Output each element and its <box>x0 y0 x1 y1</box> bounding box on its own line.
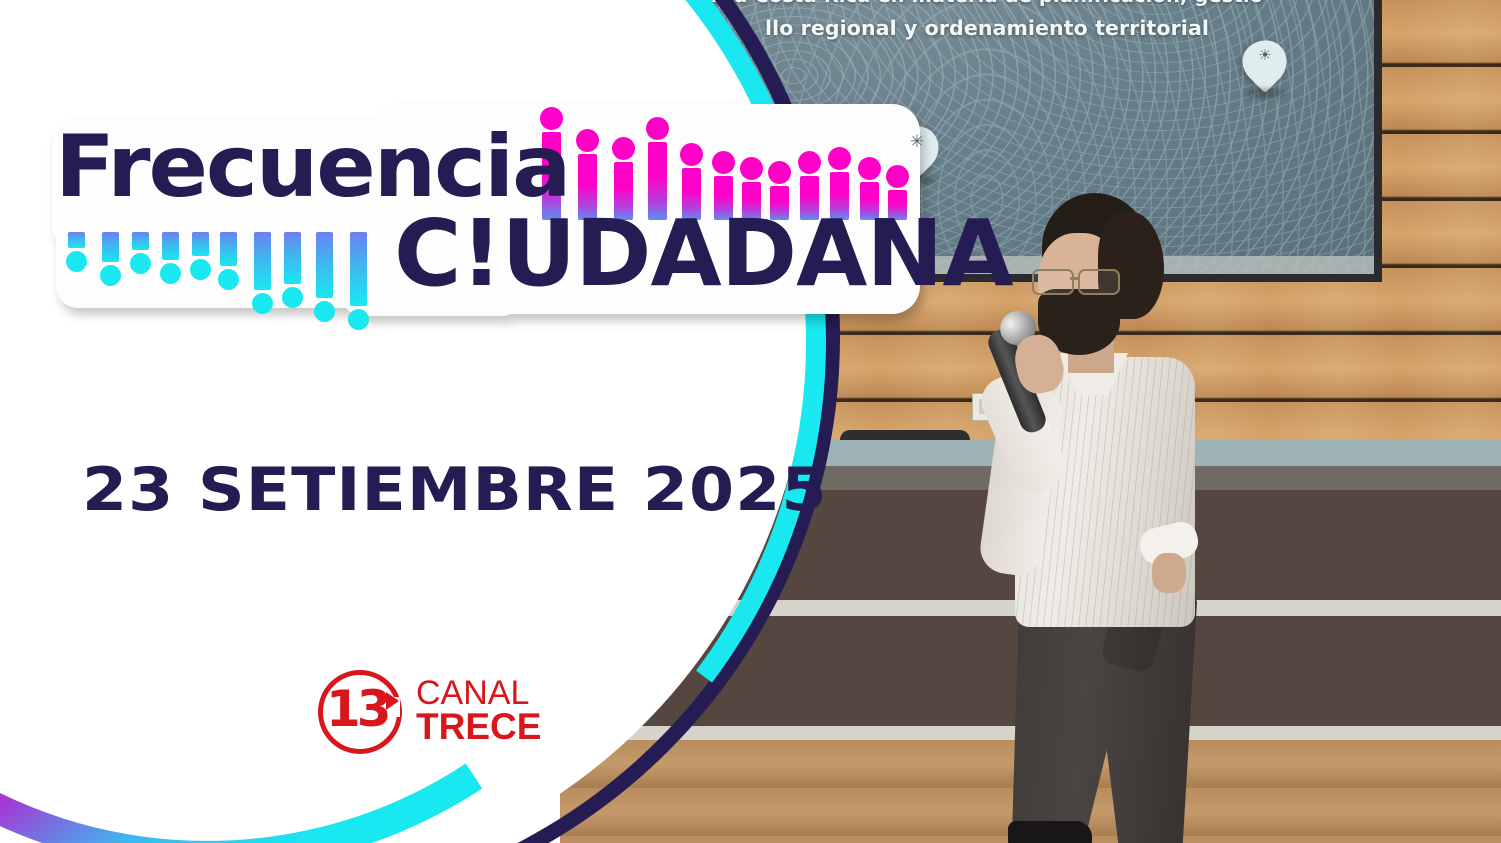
equalizer-bar <box>132 232 149 250</box>
pin-glyph: ✳ <box>895 132 939 152</box>
glasses-lens-left <box>1032 269 1074 295</box>
equalizer-bar <box>316 232 333 298</box>
equalizer-dot <box>740 157 763 180</box>
equalizer-bar <box>102 232 119 262</box>
canal-trece-logo: 13 CANAL TRECE <box>318 664 548 760</box>
equalizer-dot <box>680 143 703 166</box>
canal-name-line-2: TRECE <box>416 708 541 745</box>
presenter-shoe <box>1008 821 1092 843</box>
equalizer-dot <box>190 259 211 280</box>
equalizer-bar <box>350 232 367 306</box>
presenter-hand-in-pocket <box>1152 553 1186 593</box>
equalizer-dot <box>100 265 121 286</box>
equalizer-bar <box>220 232 237 266</box>
logo-word-ciudadana: C!UDADANA <box>394 208 1013 300</box>
pin-glyph: ☀ <box>1243 46 1287 64</box>
broadcast-title-card: nta Costa Rica en materia de planificaci… <box>0 0 1501 843</box>
equalizer-dot <box>886 165 909 188</box>
equalizer-dot <box>712 151 735 174</box>
equalizer-bar <box>192 232 209 256</box>
equalizer-dot <box>612 137 635 160</box>
equalizer-dot <box>576 129 599 152</box>
canal-number: 13 <box>326 684 388 734</box>
canal-name-line-1: CANAL <box>416 676 529 710</box>
equalizer-dot <box>314 301 335 322</box>
equalizer-bar <box>254 232 271 290</box>
equalizer-dot <box>160 263 181 284</box>
equalizer-dot <box>646 117 669 140</box>
equalizer-dot <box>130 253 151 274</box>
equalizer-dot <box>828 147 851 170</box>
equalizer-dot <box>252 293 273 314</box>
glasses-lens-right <box>1078 269 1120 295</box>
equalizer-dot <box>798 151 821 174</box>
presenter-glasses <box>1032 269 1128 293</box>
broadcast-date: 23 SETIEMBRE 2025 <box>82 455 828 525</box>
equalizer-dot <box>282 287 303 308</box>
equalizer-bar <box>162 232 179 260</box>
logo-word-frecuencia: Frecuencia <box>55 124 569 210</box>
lightbulb-icon: ☀ <box>1243 40 1287 96</box>
equalizer-bar <box>284 232 301 284</box>
equalizer-dot <box>348 309 369 330</box>
equalizer-bar <box>68 232 85 248</box>
equalizer-dot <box>218 269 239 290</box>
pin-shadow <box>1245 88 1285 99</box>
equalizer-dot <box>66 251 87 272</box>
equalizer-dot <box>768 161 791 184</box>
equalizer-dot <box>858 157 881 180</box>
program-logo: Frecuencia C!UDADANA <box>42 104 912 326</box>
